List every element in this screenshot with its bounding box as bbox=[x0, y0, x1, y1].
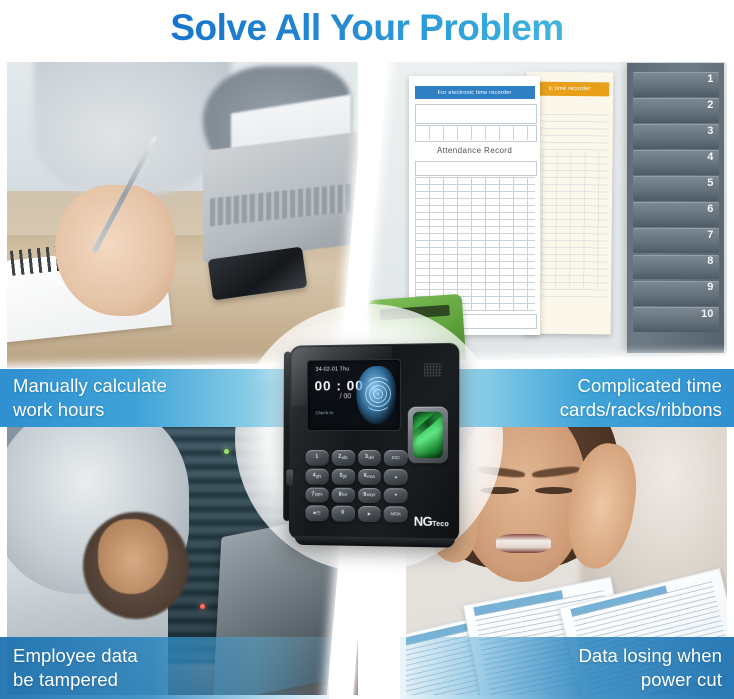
device-body: 34-02-01 Thu 00 : 00 / 00 Check-In 1 2ab… bbox=[289, 343, 459, 542]
time-card-grid-cols bbox=[415, 177, 535, 312]
key-ok[interactable]: M/OK bbox=[384, 506, 408, 522]
time-card-subheader bbox=[415, 161, 537, 176]
caption-line: be tampered bbox=[13, 668, 329, 692]
server-led bbox=[200, 604, 205, 609]
key-up-arrow-icon[interactable]: ▲ bbox=[384, 469, 408, 485]
key-4ghi[interactable]: 4ghi bbox=[305, 468, 328, 484]
key-letters: ▶ bbox=[368, 512, 371, 516]
woman-mouth bbox=[496, 534, 551, 553]
image-collage: ic time recorder For electronic time rec… bbox=[0, 56, 734, 699]
fingerprint-time-clock-device: 34-02-01 Thu 00 : 00 / 00 Check-In 1 2ab… bbox=[289, 343, 459, 542]
infographic-page: Solve All Your Problem ic time recorder bbox=[0, 0, 734, 699]
caption-power-cut: Data losing when power cut bbox=[400, 637, 734, 699]
brand-logo: NGTeco bbox=[414, 514, 449, 530]
key-letters: ESC bbox=[392, 456, 400, 460]
key-3def[interactable]: 3def bbox=[358, 450, 381, 466]
rack-slot-number: 3 bbox=[707, 125, 713, 137]
caption-line: Complicated time bbox=[577, 374, 722, 398]
rack-slot: 1 bbox=[633, 72, 719, 97]
rack-slot: 10 bbox=[633, 307, 719, 332]
time-card-grid-cols-secondary bbox=[528, 151, 609, 288]
speaker-grille-icon bbox=[424, 363, 442, 376]
rack-slot-number: 10 bbox=[701, 308, 713, 320]
key-letters: def bbox=[368, 456, 373, 460]
rack-slot: 7 bbox=[633, 228, 719, 253]
page-title: Solve All Your Problem bbox=[170, 7, 563, 49]
time-card-field-cols bbox=[415, 125, 535, 141]
rack-slot: 6 bbox=[633, 202, 719, 227]
key-7pqrs[interactable]: 7pqrs bbox=[305, 487, 328, 503]
rack-slot-number: 1 bbox=[707, 73, 713, 85]
rack-slot-number: 6 bbox=[707, 203, 713, 215]
fingerprint-sensor-window[interactable] bbox=[413, 412, 443, 459]
hacker-face bbox=[98, 519, 168, 595]
rack-slot-number: 7 bbox=[707, 229, 713, 241]
rack-slot-number: 2 bbox=[707, 99, 713, 111]
device-lcd-screen: 34-02-01 Thu 00 : 00 / 00 Check-In bbox=[308, 360, 400, 430]
key-letters: pqrs bbox=[315, 493, 323, 497]
rack-slot: 8 bbox=[633, 255, 719, 280]
frame-edge-top bbox=[0, 56, 734, 62]
lcd-seconds: / 00 bbox=[340, 393, 351, 400]
time-card-header-secondary: ic time recorder bbox=[530, 83, 610, 97]
key-1[interactable]: 1 bbox=[306, 450, 329, 466]
title-bar: Solve All Your Problem bbox=[0, 0, 734, 56]
rack-slot-number: 8 bbox=[707, 255, 713, 267]
time-card-title: Attendance Record bbox=[422, 146, 526, 155]
usb-port bbox=[286, 470, 293, 486]
rack-slot-number: 9 bbox=[707, 281, 713, 293]
key-letters: tuv bbox=[342, 493, 347, 497]
rack-slot: 4 bbox=[633, 150, 719, 175]
fingerprint-sensor[interactable] bbox=[408, 407, 448, 464]
caption-data-tampered: Employee data be tampered bbox=[0, 637, 329, 699]
key-letters: ghi bbox=[316, 474, 321, 478]
key-down-arrow-icon[interactable]: ▼ bbox=[384, 488, 408, 504]
rack-slot: 5 bbox=[633, 176, 719, 201]
key-0[interactable]: 0 bbox=[331, 506, 354, 522]
key-digit: 0 bbox=[341, 511, 344, 516]
rack-slot: 2 bbox=[633, 98, 719, 123]
key-9wxyz[interactable]: 9wxyz bbox=[358, 487, 381, 503]
rack-slot-number: 4 bbox=[707, 151, 713, 163]
sensor-reflection bbox=[413, 412, 443, 441]
lcd-date: 34-02-01 Thu bbox=[316, 366, 350, 372]
key-right-arrow-icon[interactable]: ▶ bbox=[357, 506, 381, 522]
time-card-field-row-1 bbox=[415, 104, 537, 124]
key-letters: wxyz bbox=[367, 493, 376, 497]
rack-slot-number: 5 bbox=[707, 177, 713, 189]
device-keypad[interactable]: 1 2abc 3def ESC 4ghi 5jkl 6mno ▲ 7pqrs 8… bbox=[305, 450, 407, 523]
key-6mno[interactable]: 6mno bbox=[358, 469, 381, 485]
fingerprint-ridges-icon bbox=[365, 374, 391, 414]
key-letters: ▲ bbox=[394, 475, 398, 479]
rack-slot: 9 bbox=[633, 281, 719, 306]
key-letters: abc bbox=[342, 456, 348, 460]
brand-suffix: Teco bbox=[432, 521, 449, 528]
time-card-header: For electronic time recorder bbox=[415, 86, 535, 99]
rack-slot: 3 bbox=[633, 124, 719, 149]
caption-line: cards/racks/ribbons bbox=[560, 398, 722, 422]
key-5jkl[interactable]: 5jkl bbox=[331, 469, 354, 485]
time-card-rack: 1 2 3 4 5 6 7 8 9 10 bbox=[627, 63, 725, 353]
key-digit: 1 bbox=[315, 455, 318, 460]
key-letters: ✱/☰ bbox=[313, 511, 321, 515]
caption-line: power cut bbox=[641, 668, 722, 692]
caption-line: Data losing when bbox=[578, 644, 722, 668]
key-8tuv[interactable]: 8tuv bbox=[331, 487, 354, 503]
key-menu-icon[interactable]: ✱/☰ bbox=[305, 506, 328, 522]
key-letters: jkl bbox=[343, 474, 347, 478]
key-letters: ▼ bbox=[394, 493, 398, 497]
caption-line: Employee data bbox=[13, 644, 329, 668]
brand-name: NG bbox=[414, 514, 432, 529]
key-letters: mno bbox=[367, 474, 375, 478]
lcd-status-label: Check-In bbox=[315, 410, 333, 415]
key-2abc[interactable]: 2abc bbox=[331, 450, 354, 466]
key-letters: M/OK bbox=[391, 512, 401, 516]
key-esc[interactable]: ESC bbox=[384, 450, 408, 466]
